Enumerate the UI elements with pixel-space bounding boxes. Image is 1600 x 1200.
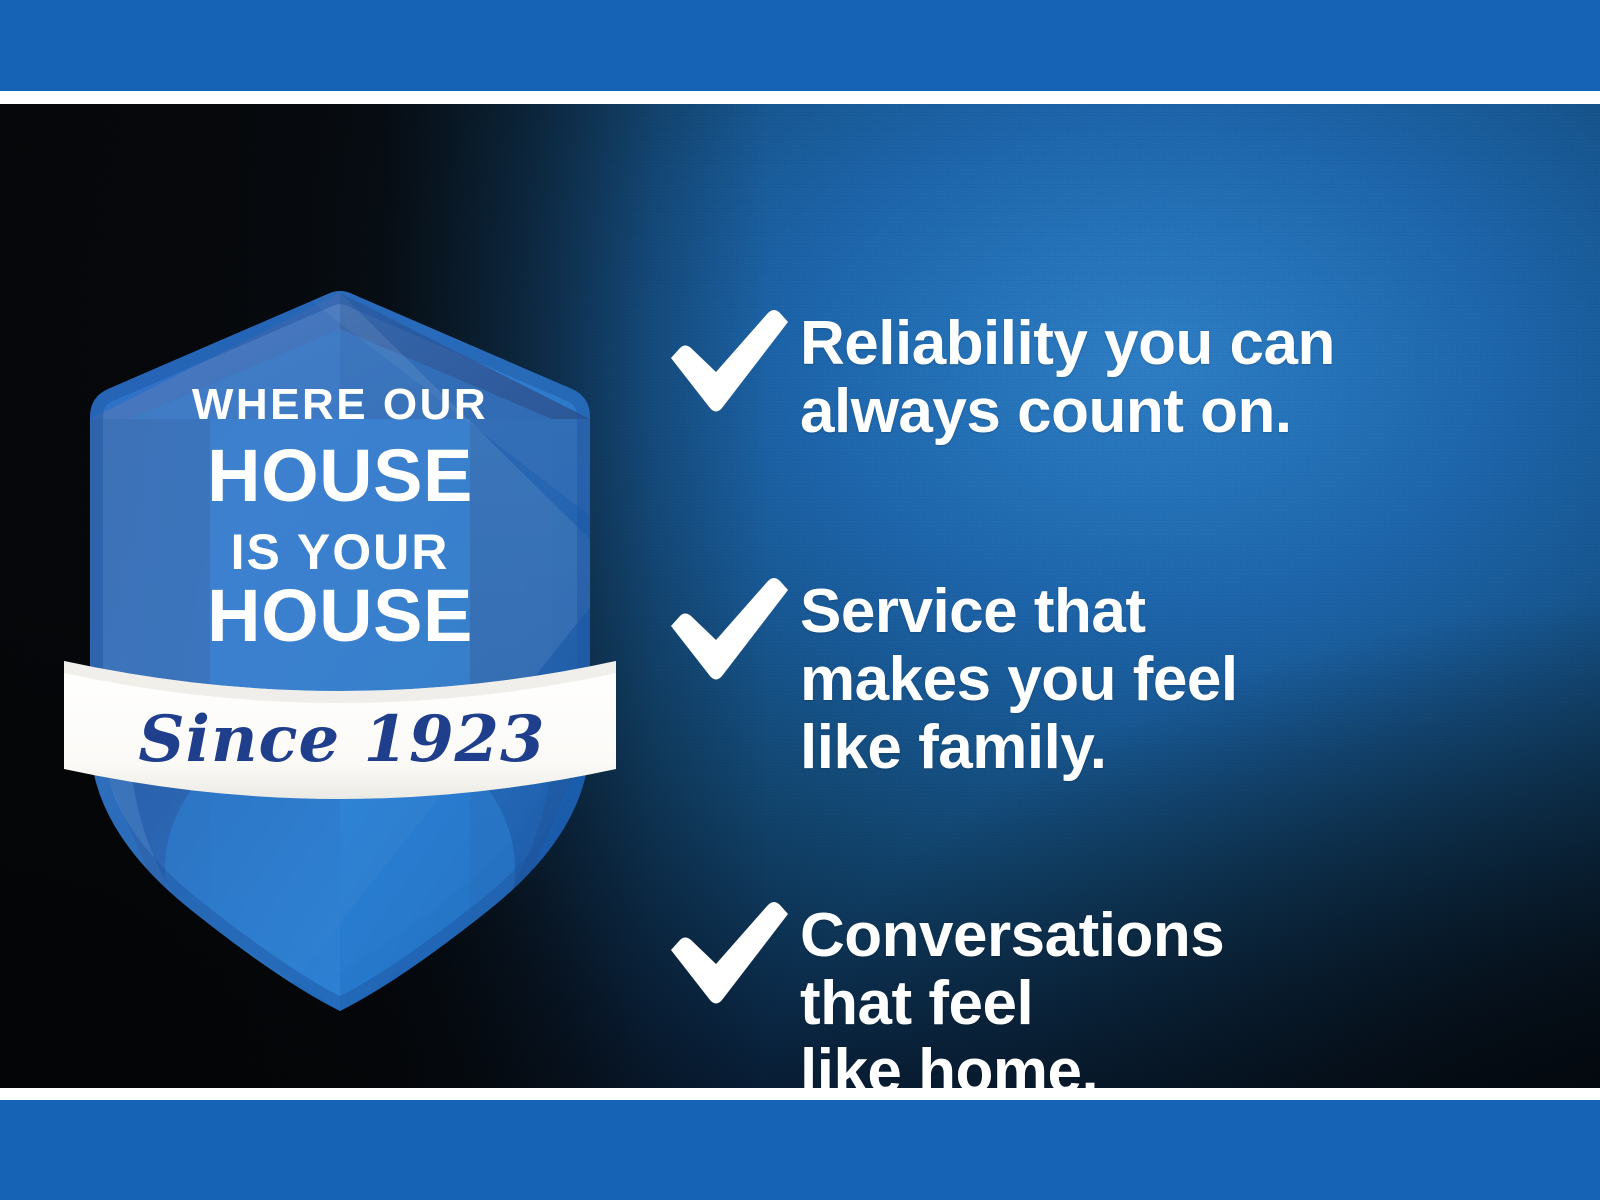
check-icon [660, 568, 800, 688]
list-item-text: Conversations that feel like home. [800, 902, 1224, 1088]
list-item: Reliability you can always count on. [660, 300, 1335, 446]
check-icon [660, 300, 800, 420]
bottom-brand-bar [0, 1100, 1600, 1200]
svg-text:HOUSE: HOUSE [207, 434, 473, 517]
list-item-text: Reliability you can always count on. [800, 310, 1335, 446]
list-item: Service that makes you feel like family. [660, 568, 1238, 783]
svg-text:WHERE OUR: WHERE OUR [192, 380, 488, 429]
svg-text:Since 1923: Since 1923 [138, 702, 545, 777]
main-stage: WHERE OUR HOUSE IS YOUR HOUSE Since 1923 [0, 104, 1600, 1088]
list-item: Conversations that feel like home. [660, 892, 1224, 1088]
shield-logo: WHERE OUR HOUSE IS YOUR HOUSE Since 1923 [60, 269, 620, 929]
check-icon [660, 892, 800, 1012]
svg-text:IS YOUR: IS YOUR [231, 524, 450, 580]
top-brand-bar [0, 0, 1600, 91]
list-item-text: Service that makes you feel like family. [800, 578, 1238, 783]
promo-poster: WHERE OUR HOUSE IS YOUR HOUSE Since 1923 [0, 0, 1600, 1200]
svg-text:HOUSE: HOUSE [207, 574, 473, 657]
